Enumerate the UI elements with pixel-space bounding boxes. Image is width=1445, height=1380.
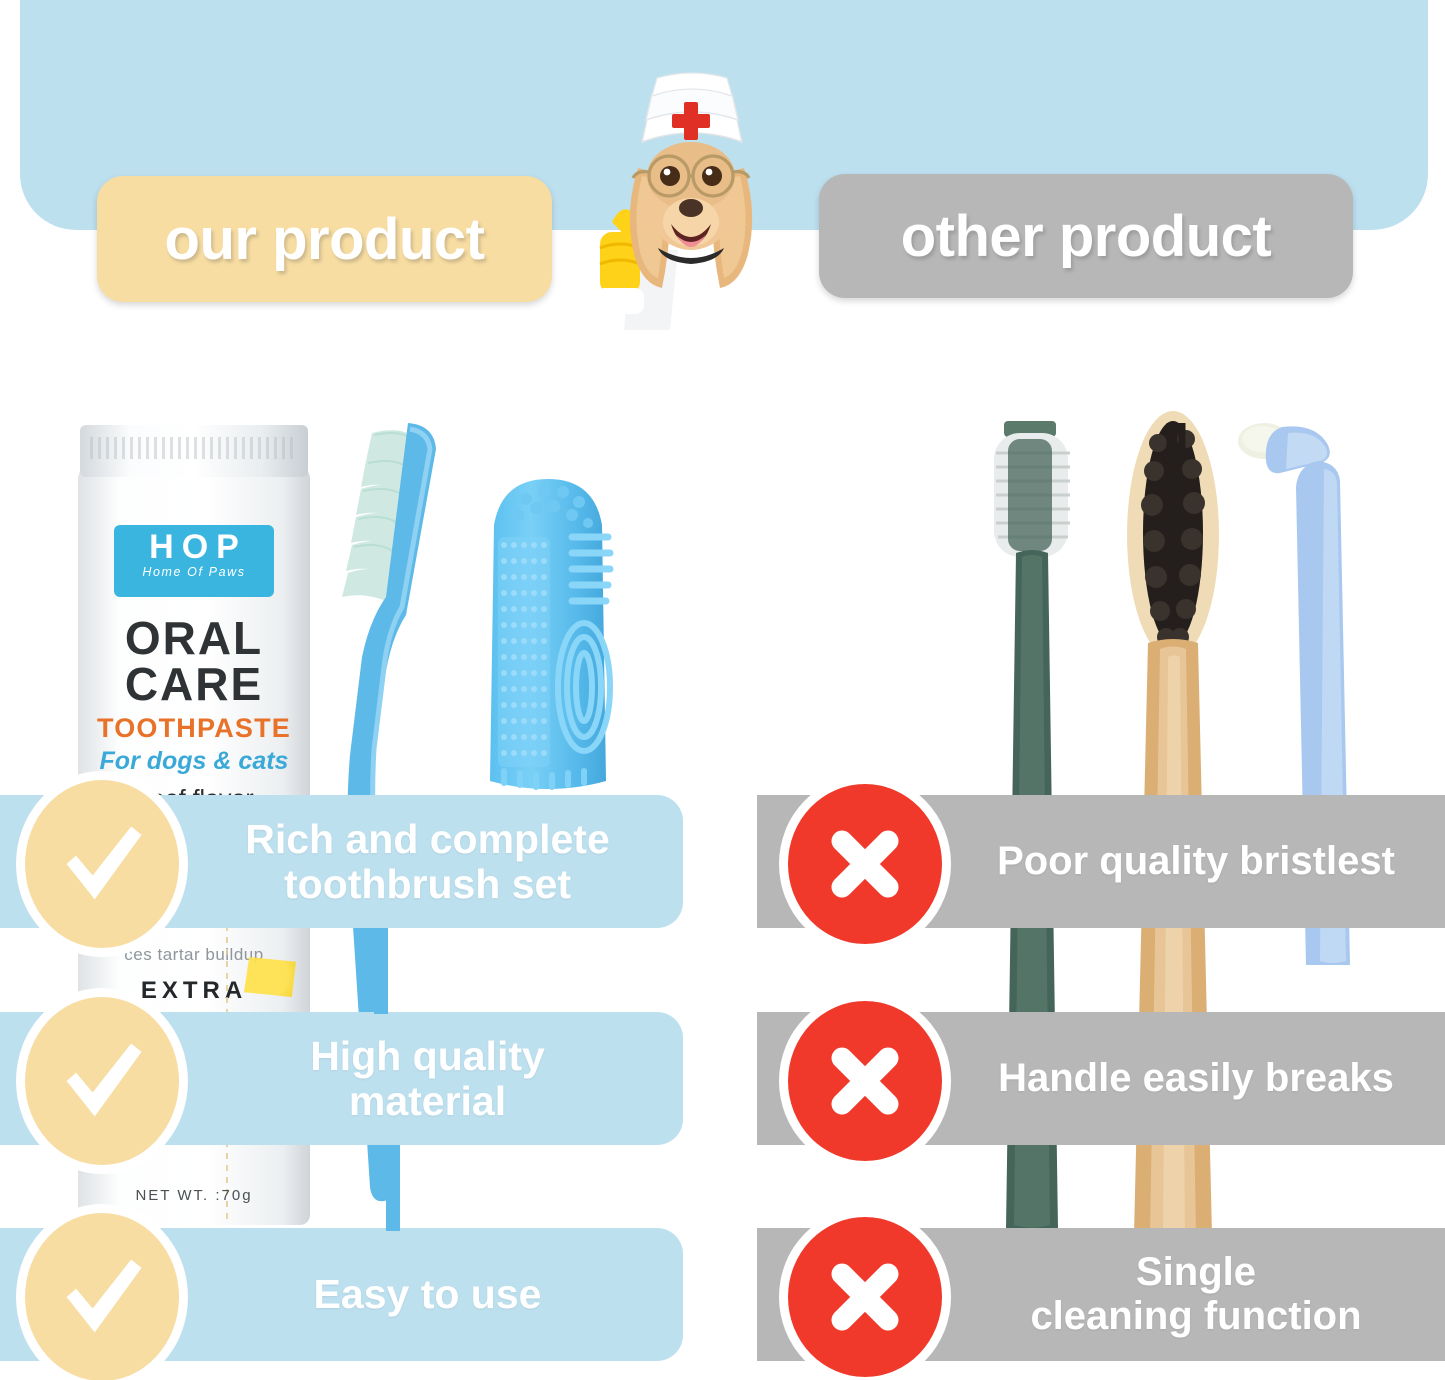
silicone-finger-brush-icon (468, 465, 628, 795)
feature-line-1: Single (1030, 1251, 1361, 1294)
tube-net-weight: NET WT. :70g (78, 1187, 310, 1204)
check-icon-1 (16, 771, 188, 957)
cross-glyph (815, 1031, 915, 1131)
tube-title-line2: CARE (78, 657, 310, 711)
feature-text-good-3: Easy to use (314, 1272, 542, 1316)
check-icon-2 (16, 988, 188, 1174)
check-icon-3 (16, 1204, 188, 1380)
feature-row-bad-1: Poor quality bristlest (757, 795, 1445, 928)
feature-text-bad-1: Poor quality bristlest (997, 840, 1395, 883)
cross-glyph (815, 814, 915, 914)
feature-line-1: Rich and complete (245, 817, 610, 861)
tube-yellow-badge (244, 957, 296, 997)
cross-icon-3 (779, 1208, 951, 1380)
tube-brand: HOP (114, 525, 274, 569)
feature-text-good-2: High quality material (310, 1034, 545, 1123)
nurse-dog-mascot-icon (566, 72, 816, 330)
feature-row-good-2: High quality material (0, 1012, 683, 1145)
infographic-page: our product other product (0, 0, 1445, 1380)
feature-row-bad-2: Handle easily breaks (757, 1012, 1445, 1145)
cross-icon-1 (779, 775, 951, 953)
our-product-title: our product (165, 206, 485, 273)
feature-line-2: cleaning function (1030, 1295, 1361, 1338)
feature-line-1: Poor quality bristlest (997, 840, 1395, 883)
feature-line-2: toothbrush set (245, 862, 610, 906)
tube-type: TOOTHPASTE (78, 713, 310, 744)
brush-handle-stem-2 (386, 1145, 400, 1231)
cross-glyph (815, 1247, 915, 1347)
check-glyph (50, 1245, 154, 1349)
other-product-title: other product (901, 203, 1271, 270)
feature-row-good-3: Easy to use (0, 1228, 683, 1361)
feature-row-bad-3: Single cleaning function (757, 1228, 1445, 1361)
feature-row-good-1: Rich and complete toothbrush set (0, 795, 683, 928)
feature-text-bad-2: Handle easily breaks (998, 1057, 1394, 1100)
check-glyph (50, 812, 154, 916)
feature-line-1: High quality (310, 1034, 545, 1078)
other-product-title-pill: other product (819, 174, 1353, 298)
feature-line-2: material (310, 1079, 545, 1123)
tube-brand-sub: Home Of Paws (114, 565, 274, 579)
feature-text-bad-3: Single cleaning function (1030, 1251, 1361, 1337)
cross-icon-2 (779, 992, 951, 1170)
feature-line-1: Handle easily breaks (998, 1057, 1394, 1100)
check-glyph (50, 1029, 154, 1133)
tube-brand-box: HOP Home Of Paws (114, 525, 274, 597)
feature-text-good-1: Rich and complete toothbrush set (245, 817, 610, 906)
brush-handle-stem-1 (374, 928, 388, 1014)
our-product-title-pill: our product (97, 176, 552, 302)
feature-line-1: Easy to use (314, 1272, 542, 1316)
